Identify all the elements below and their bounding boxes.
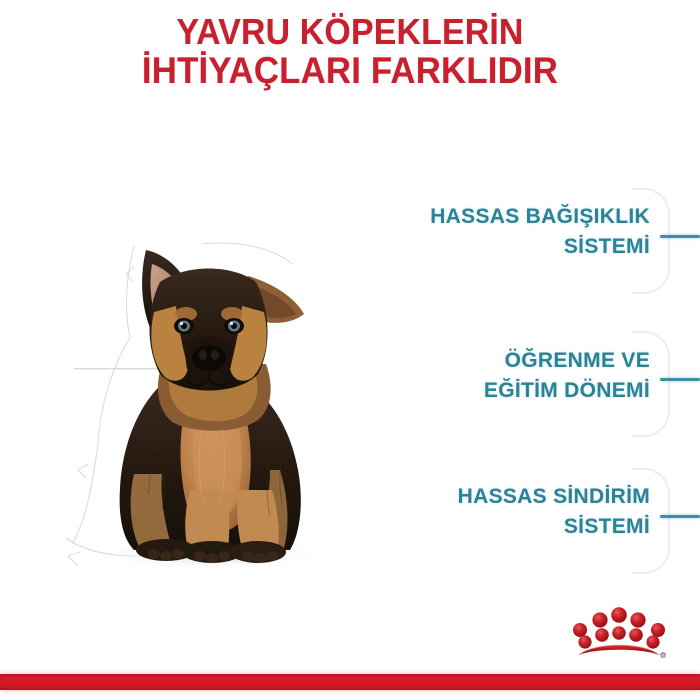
callout-immunity-line-2: SİSTEMİ [350,232,650,262]
page-title: YAVRU KÖPEKLERİN İHTİYAÇLARI FARKLIDIR [0,14,700,90]
german-shepherd-puppy-illustration [42,238,374,580]
callout-learning-line-2: EĞİTİM DÖNEMİ [350,376,650,406]
callout-immunity-line-1: HASSAS BAĞIŞIKLIK [350,202,650,232]
bottom-red-bar [0,674,700,690]
callout-dash-learning [660,378,700,381]
callout-digestion-line-2: SİSTEMİ [350,512,650,542]
promo-banner: YAVRU KÖPEKLERİN İHTİYAÇLARI FARKLIDIR [0,0,700,700]
callout-dash-immunity [660,235,700,238]
trademark-symbol: ® [662,653,665,658]
puppy-photo [42,238,374,580]
callout-immunity: HASSAS BAĞIŞIKLIK SİSTEMİ [350,202,650,263]
callout-learning-line-1: ÖĞRENME VE [350,346,650,376]
callout-learning: ÖĞRENME VE EĞİTİM DÖNEMİ [350,346,650,407]
royal-canin-crown-logo: ® [570,606,668,660]
title-line-2: İHTİYAÇLARI FARKLIDIR [21,53,679,89]
callout-digestion: HASSAS SİNDİRİM SİSTEMİ [350,482,650,543]
callout-digestion-line-1: HASSAS SİNDİRİM [350,482,650,512]
title-line-1: YAVRU KÖPEKLERİN [21,14,679,49]
callout-dash-digestion [660,515,700,518]
